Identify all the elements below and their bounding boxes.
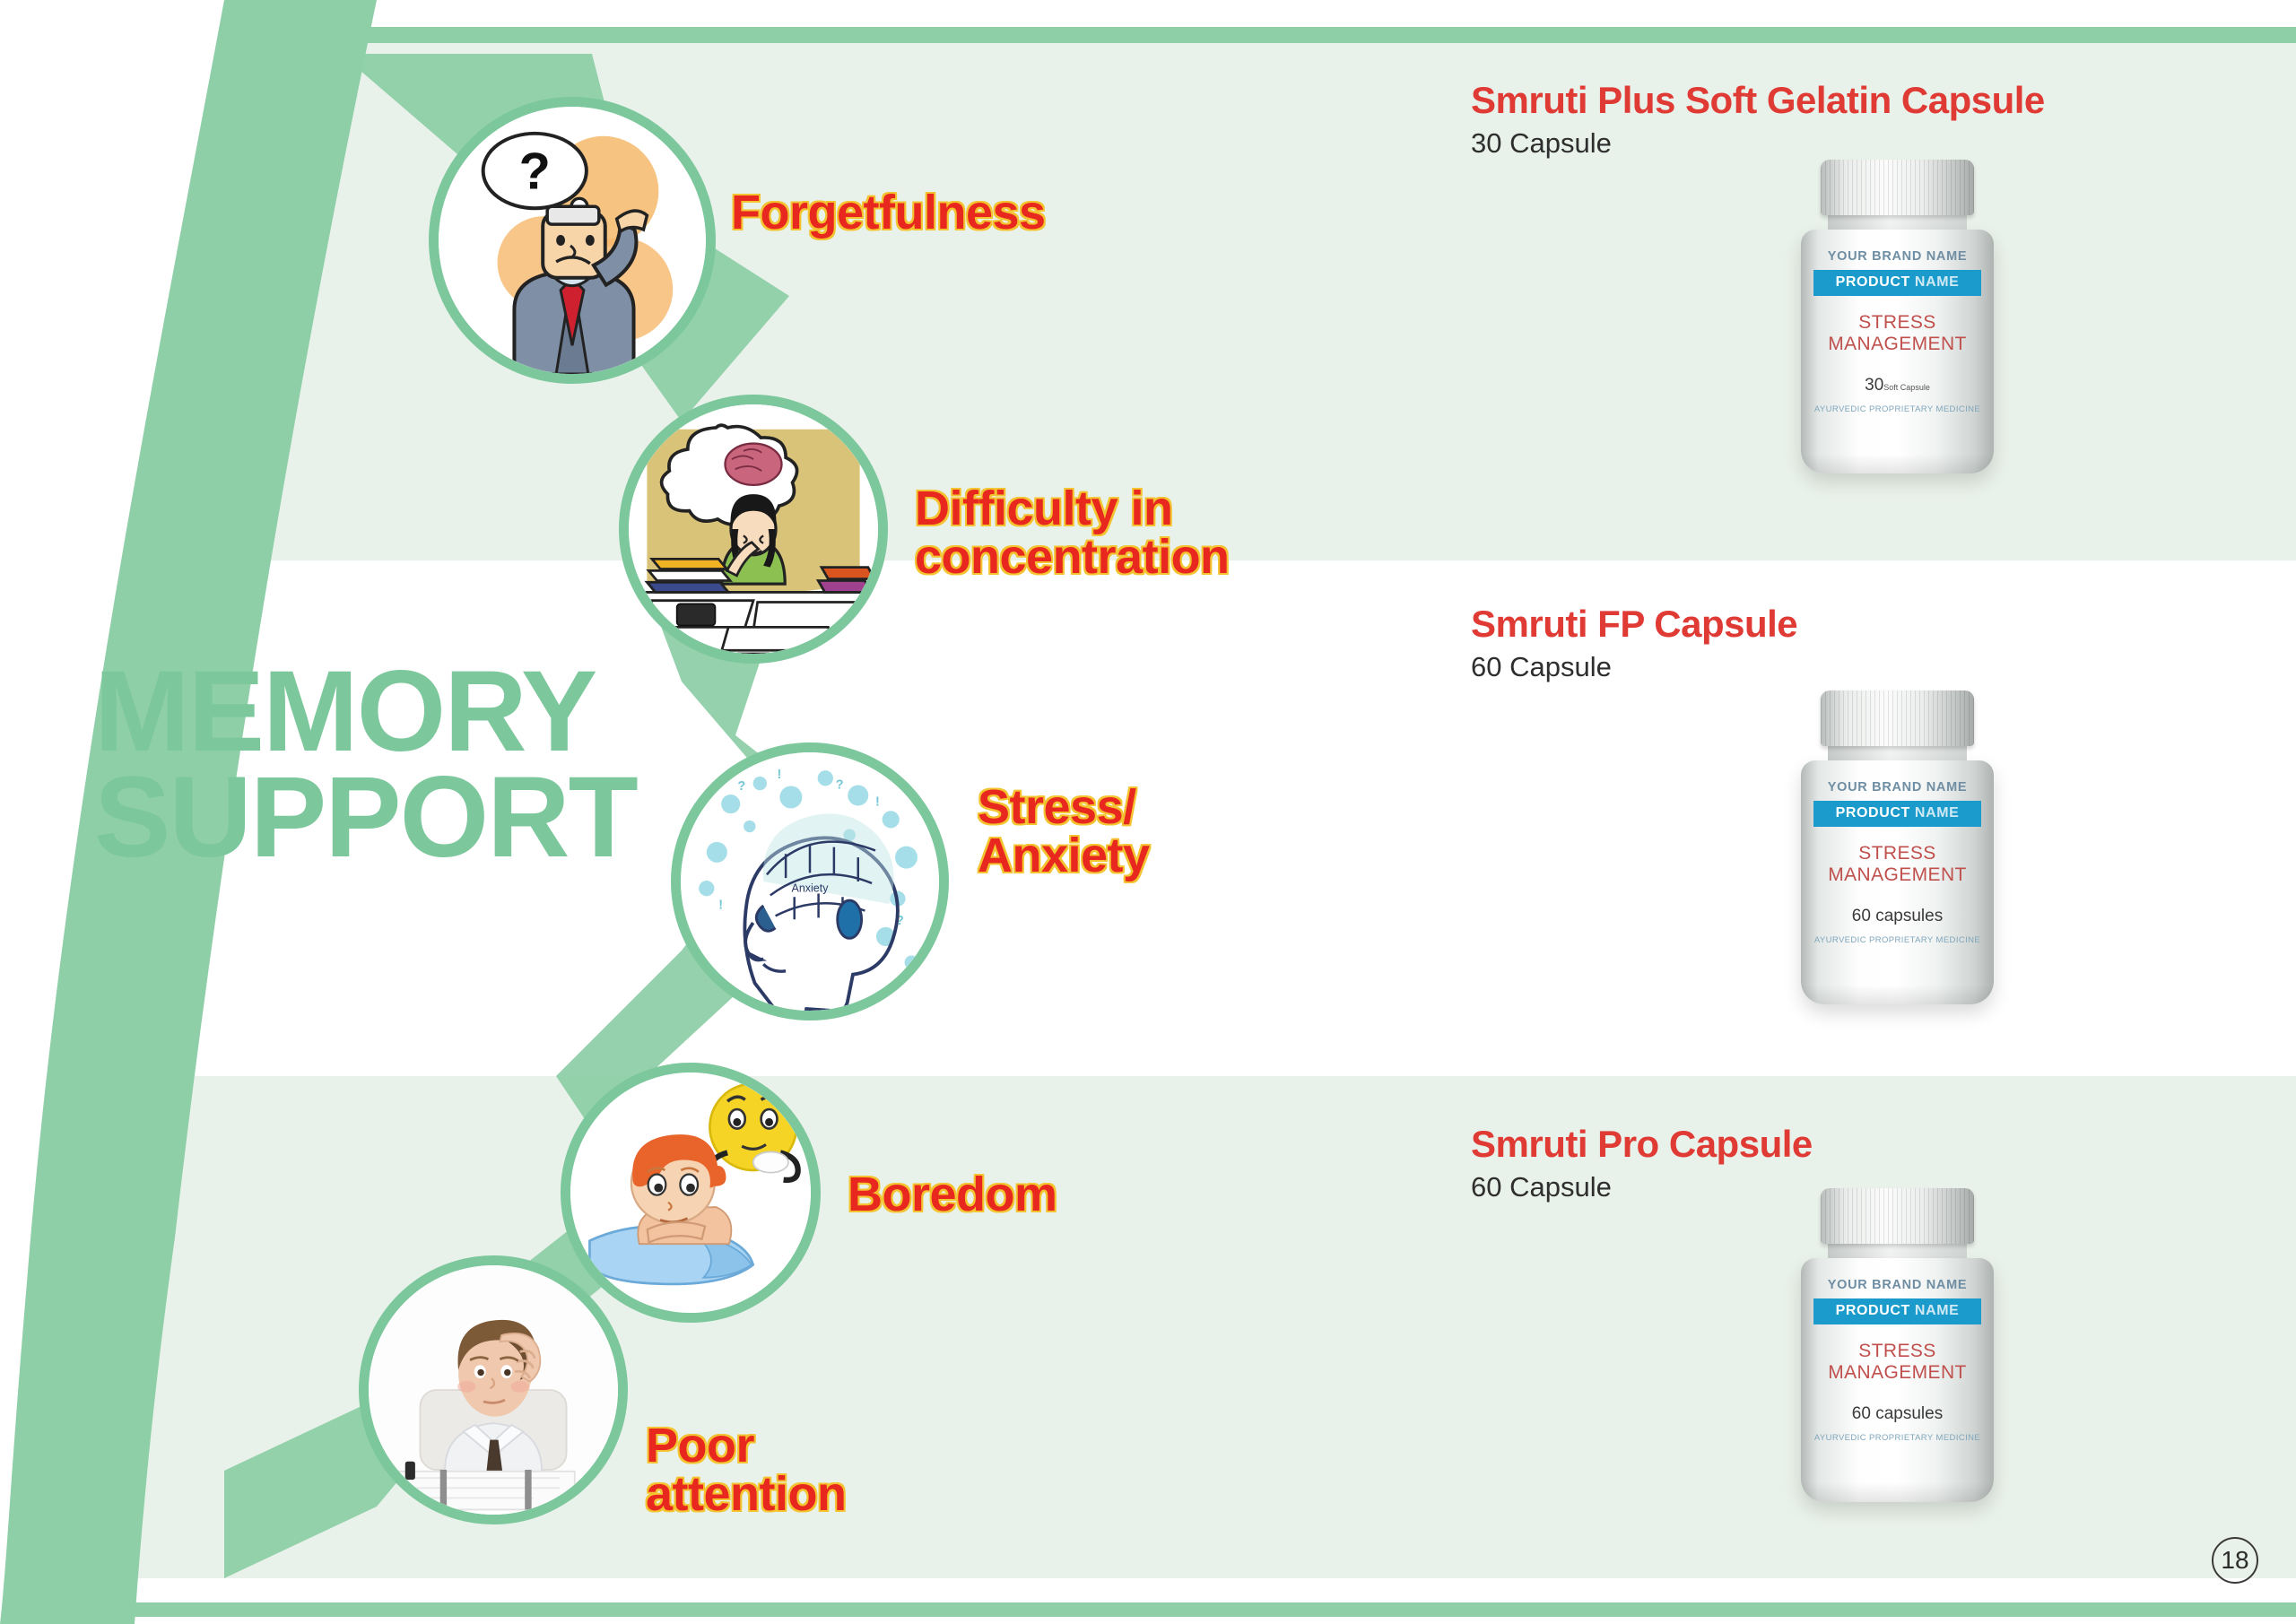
svg-text:Anxiety: Anxiety (792, 882, 830, 895)
bottle-qty-1: 30Soft Capsule (1801, 376, 1994, 395)
bottle-neck-3 (1828, 1244, 1967, 1258)
symptom-label-stress: Stress/ Anxiety (978, 783, 1150, 880)
product-title-3: Smruti Pro Capsule (1471, 1123, 1813, 1166)
bottle-product-bar-3: PRODUCT NAME (1813, 1298, 1981, 1324)
bottle-qty-number-3: 60 (1852, 1404, 1871, 1423)
headline-line-1: MEMORY (94, 659, 668, 765)
bottle-main-line2-1: MANAGEMENT (1801, 334, 1994, 355)
bottle-main-line2-3: MANAGEMENT (1801, 1362, 1994, 1384)
bottle-main-text-2: STRESS MANAGEMENT (1801, 843, 1994, 887)
product-title-2: Smruti FP Capsule (1471, 603, 1797, 646)
bottle-main-line2-2: MANAGEMENT (1801, 864, 1994, 886)
bottom-rule (0, 1602, 2296, 1617)
svg-text:?: ? (519, 143, 551, 200)
product-count-3: 60 Capsule (1471, 1171, 1813, 1203)
product-bottle-2: YOUR BRAND NAME PRODUCT NAME STRESS MANA… (1801, 690, 1994, 1004)
bottle-product-word1-2: PRODUCT (1836, 805, 1910, 821)
catalog-page: MEMORY SUPPORT ? (0, 0, 2296, 1624)
symptom-label-forgetfulness: Forgetfulness (731, 188, 1046, 237)
bottle-main-text-1: STRESS MANAGEMENT (1801, 312, 1994, 356)
bottle-label-1: YOUR BRAND NAME PRODUCT NAME STRESS MANA… (1801, 230, 1994, 473)
bottle-product-word1-1: PRODUCT (1836, 274, 1910, 290)
bottle-qty-number-1: 30 (1865, 376, 1883, 395)
bottle-qty-unit-2: capsules (1875, 907, 1943, 925)
svg-text:!: ! (778, 768, 782, 782)
bottle-main-text-3: STRESS MANAGEMENT (1801, 1341, 1994, 1385)
headline-line-2: SUPPORT (94, 765, 668, 871)
bottle-footer-1: AYURVEDIC PROPRIETARY MEDICINE (1801, 404, 1994, 414)
page-number-badge: 18 (2212, 1537, 2258, 1584)
bottle-qty-unit-1: Soft Capsule (1883, 383, 1930, 392)
student-studying-illustration (629, 404, 878, 654)
top-rule (0, 27, 2296, 43)
product-count-1: 30 Capsule (1471, 127, 2045, 160)
bottle-qty-2: 60 capsules (1801, 907, 1994, 926)
bottle-footer-3: AYURVEDIC PROPRIETARY MEDICINE (1801, 1433, 1994, 1443)
bottle-product-bar-2: PRODUCT NAME (1813, 801, 1981, 827)
bottle-product-word2-1: NAME (1915, 274, 1960, 290)
symptom-label-concentration: Difficulty in concentration (915, 484, 1230, 581)
symptom-circle-boredom (561, 1063, 821, 1323)
bottle-qty-number-2: 60 (1852, 907, 1871, 925)
anxious-head-diagram-illustration: ?! ?! ?! Anxiety (681, 752, 939, 1011)
symptom-circle-poor-attention (359, 1255, 628, 1524)
svg-text:?: ? (737, 779, 745, 794)
bottle-cap-icon-1 (1821, 160, 1974, 215)
bottle-main-line1-1: STRESS (1801, 312, 1994, 334)
product-row-1: Smruti Plus Soft Gelatin Capsule 30 Caps… (1471, 79, 2045, 160)
bottle-product-word2-3: NAME (1915, 1303, 1960, 1318)
bottle-neck-2 (1828, 746, 1967, 760)
bottle-product-word1-3: PRODUCT (1836, 1303, 1910, 1318)
page-title: MEMORY SUPPORT (94, 659, 668, 871)
bottle-brand-2: YOUR BRAND NAME (1801, 780, 1994, 795)
symptom-circle-forgetfulness: ? (429, 97, 716, 384)
product-row-3: Smruti Pro Capsule 60 Capsule (1471, 1123, 1813, 1203)
bottle-main-line1-3: STRESS (1801, 1341, 1994, 1362)
confused-businessman-illustration: ? (439, 107, 706, 374)
bottle-brand-3: YOUR BRAND NAME (1801, 1278, 1994, 1292)
bottle-label-2: YOUR BRAND NAME PRODUCT NAME STRESS MANA… (1801, 760, 1994, 1004)
product-title-1: Smruti Plus Soft Gelatin Capsule (1471, 79, 2045, 122)
bottle-cap-icon-2 (1821, 690, 1974, 746)
product-bottle-1: YOUR BRAND NAME PRODUCT NAME STRESS MANA… (1801, 160, 1994, 473)
product-count-2: 60 Capsule (1471, 651, 1797, 683)
distracted-schoolboy-photo (369, 1265, 618, 1515)
product-row-2: Smruti FP Capsule 60 Capsule (1471, 603, 1797, 683)
bottle-brand-1: YOUR BRAND NAME (1801, 249, 1994, 264)
bottle-neck-1 (1828, 215, 1967, 230)
bored-boy-with-emoji-illustration (570, 1073, 811, 1313)
bottle-main-line1-2: STRESS (1801, 843, 1994, 864)
symptom-circle-stress: ?! ?! ?! Anxiety (671, 743, 949, 1020)
product-bottle-3: YOUR BRAND NAME PRODUCT NAME STRESS MANA… (1801, 1188, 1994, 1502)
svg-text:!: ! (718, 899, 723, 913)
symptom-label-boredom: Boredom (848, 1170, 1057, 1219)
bottle-product-word2-2: NAME (1915, 805, 1960, 821)
symptom-label-poor-attention: Poor attention (646, 1421, 846, 1518)
svg-text:?: ? (836, 777, 844, 792)
bottle-cap-icon-3 (1821, 1188, 1974, 1244)
bottle-qty-unit-3: capsules (1875, 1404, 1943, 1423)
svg-text:!: ! (875, 795, 880, 810)
bottle-qty-3: 60 capsules (1801, 1404, 1994, 1424)
bottle-label-3: YOUR BRAND NAME PRODUCT NAME STRESS MANA… (1801, 1258, 1994, 1502)
bottle-footer-2: AYURVEDIC PROPRIETARY MEDICINE (1801, 935, 1994, 945)
symptom-circle-concentration (619, 395, 888, 664)
bottle-product-bar-1: PRODUCT NAME (1813, 270, 1981, 296)
